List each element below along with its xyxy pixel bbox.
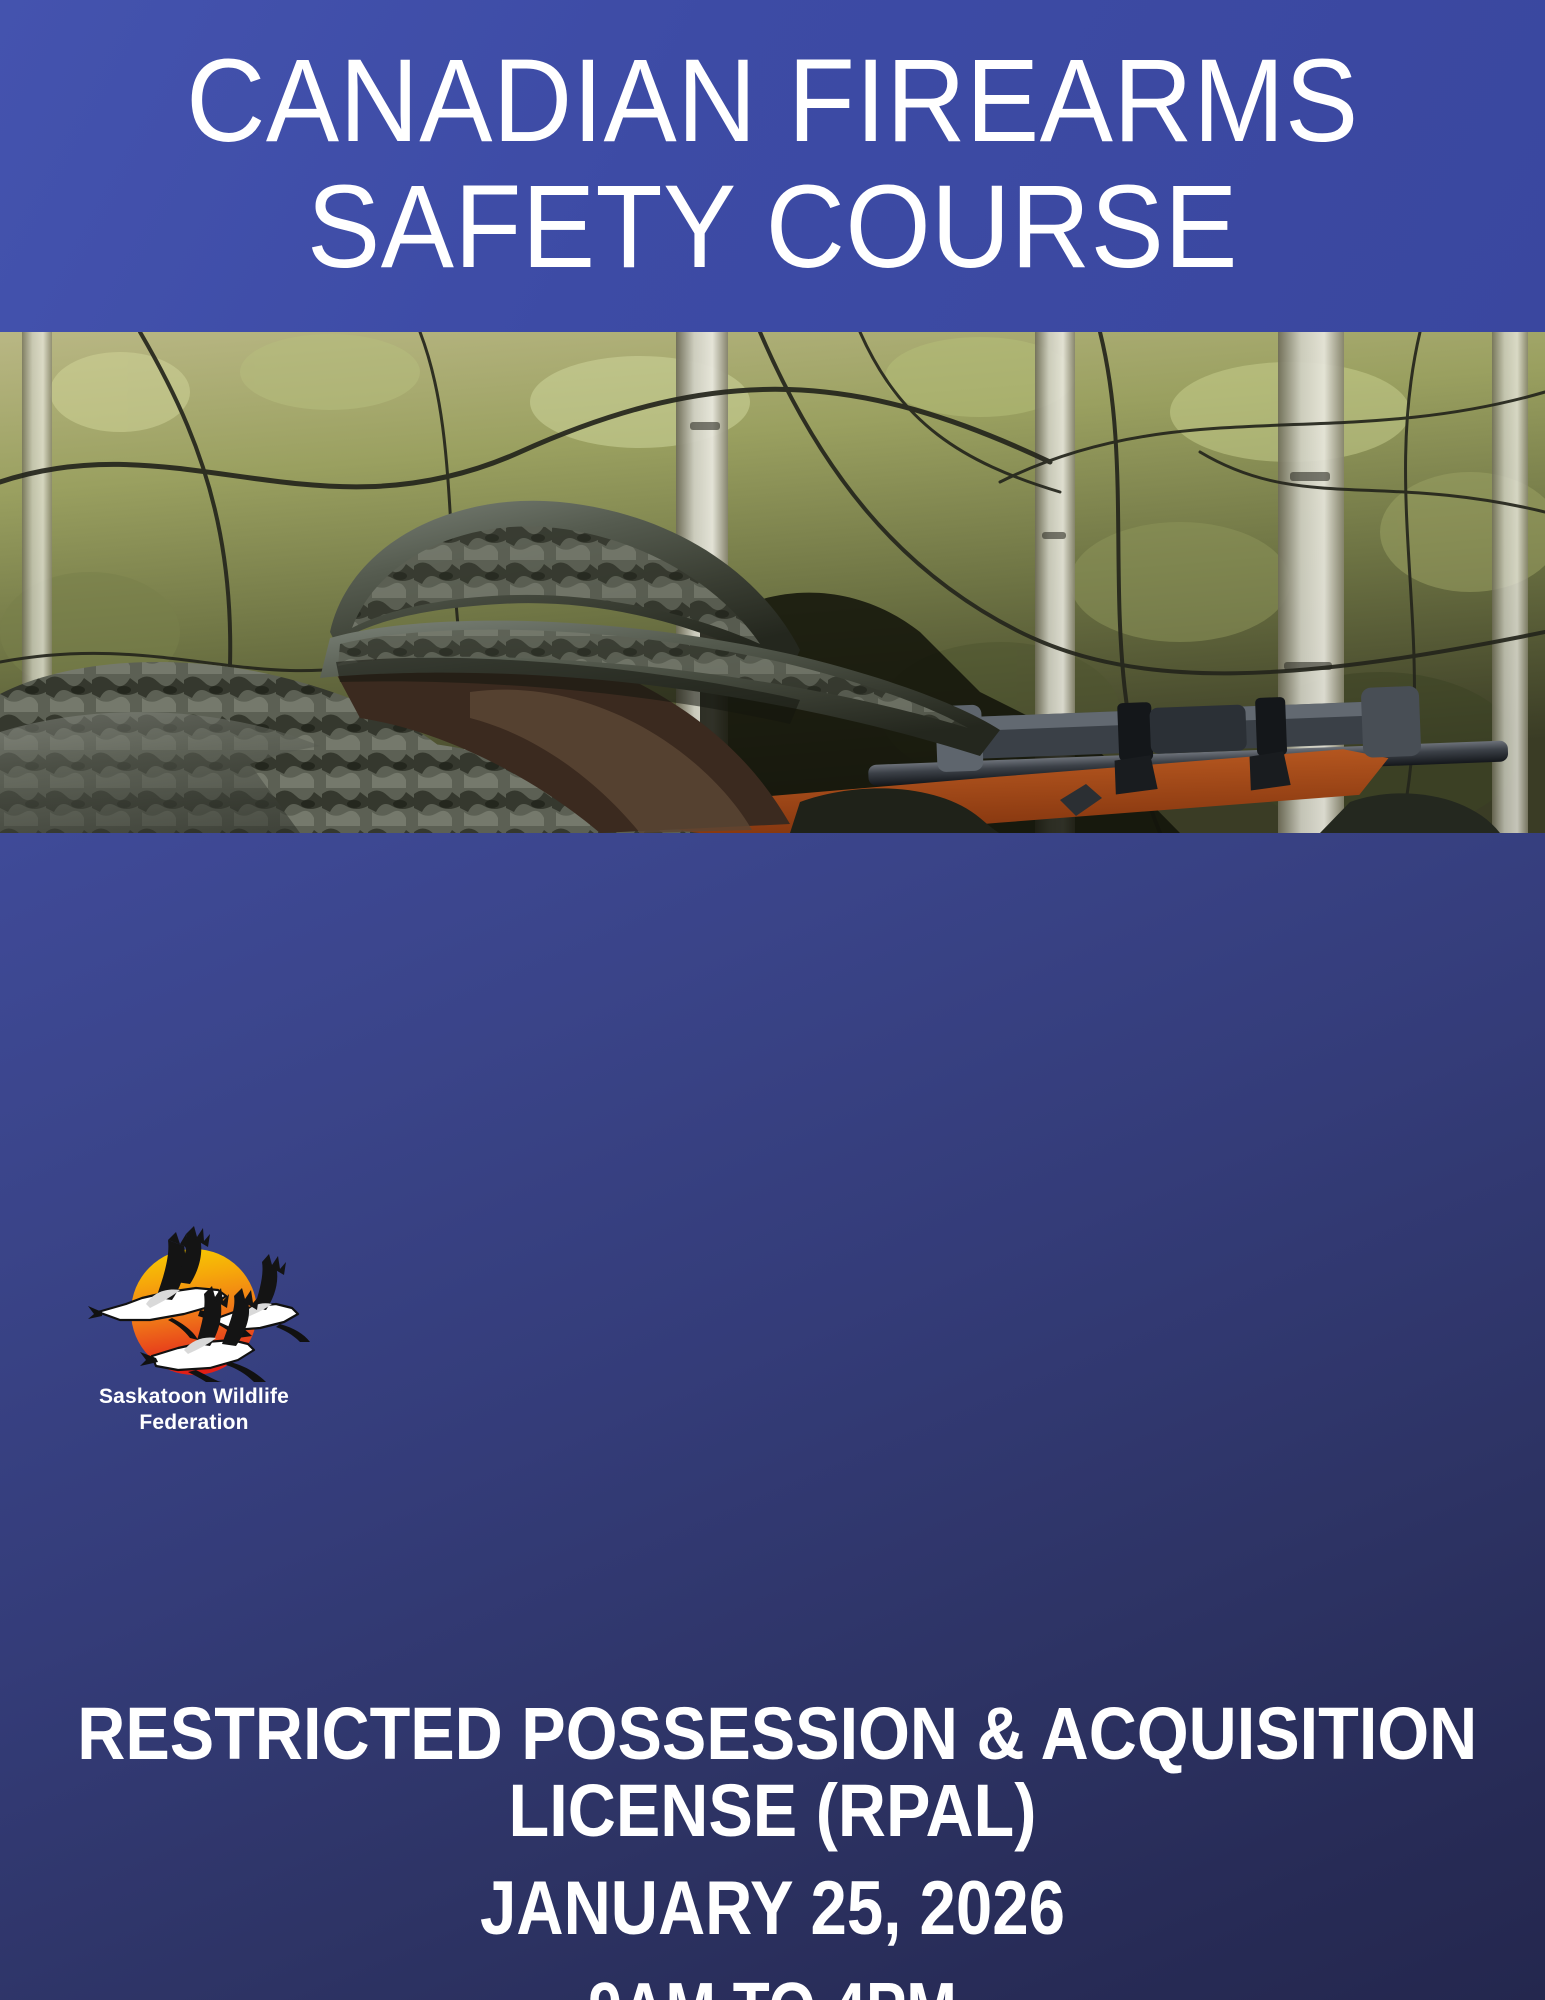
- logo-name-line-2: Federation: [72, 1410, 316, 1436]
- course-title-line-2: LICENSE (RPAL): [77, 1768, 1468, 1853]
- hunter-photo-illustration: [0, 332, 1545, 833]
- saskatoon-wildlife-federation-logo: Saskatoon Wildlife Federation: [72, 1220, 316, 1430]
- course-date: JANUARY 25, 2026: [108, 1865, 1437, 1952]
- poster: CANADIAN FIREARMS SAFETY COURSE: [0, 0, 1545, 2000]
- logo-name: Saskatoon Wildlife Federation: [72, 1384, 316, 1435]
- hunter-photo: [0, 332, 1545, 833]
- header-title-line-1: CANADIAN FIREARMS: [186, 41, 1359, 161]
- course-title-line-1: RESTRICTED POSSESSION & ACQUISITION: [77, 1691, 1468, 1776]
- header-title-line-2: SAFETY COURSE: [307, 167, 1238, 287]
- logo-crane-sun-icon: [72, 1220, 316, 1382]
- poster-header: CANADIAN FIREARMS SAFETY COURSE: [0, 0, 1545, 332]
- logo-name-line-1: Saskatoon Wildlife: [72, 1384, 316, 1410]
- course-time: 9AM TO 4PM: [124, 1968, 1422, 2000]
- poster-body: RESTRICTED POSSESSION & ACQUISITION LICE…: [0, 833, 1545, 2000]
